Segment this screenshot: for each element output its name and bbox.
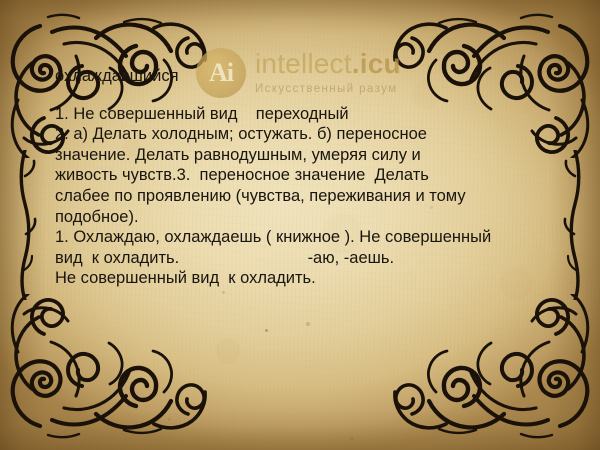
definition-line: подобное). [55,207,575,228]
definition-line: значение. Делать равнодушным, умеряя сил… [55,145,575,166]
parchment-page: Ai intellect.icu Искусственный разум охл… [0,0,600,450]
paper-speck [168,418,171,421]
page-title: охлаждавшийся [55,66,575,87]
definition-line: вид к охладить. -аю, -аешь. [55,248,575,269]
paper-speck [306,322,310,326]
definition-line: Не совершенный вид к охладить. [55,268,575,289]
definition-line: слабее по проявлению (чувства, переживан… [55,186,575,207]
definition-line: 1. Не совершенный вид переходный [55,104,575,125]
paper-speck [222,291,225,294]
definition-line: живость чувств.3. переносное значение Де… [55,165,575,186]
dictionary-entry: охлаждавшийся 1. Не совершенный вид пере… [55,66,575,289]
definition-line: 2. а) Делать холодным; остужать. б) пере… [55,124,575,145]
definition-line: 1. Охлаждаю, охлаждаешь ( книжное ). Не … [55,227,575,248]
paper-speck [265,329,268,332]
definition-block: 1. Не совершенный вид переходный 2. а) Д… [55,104,575,289]
paper-speck [350,437,354,440]
